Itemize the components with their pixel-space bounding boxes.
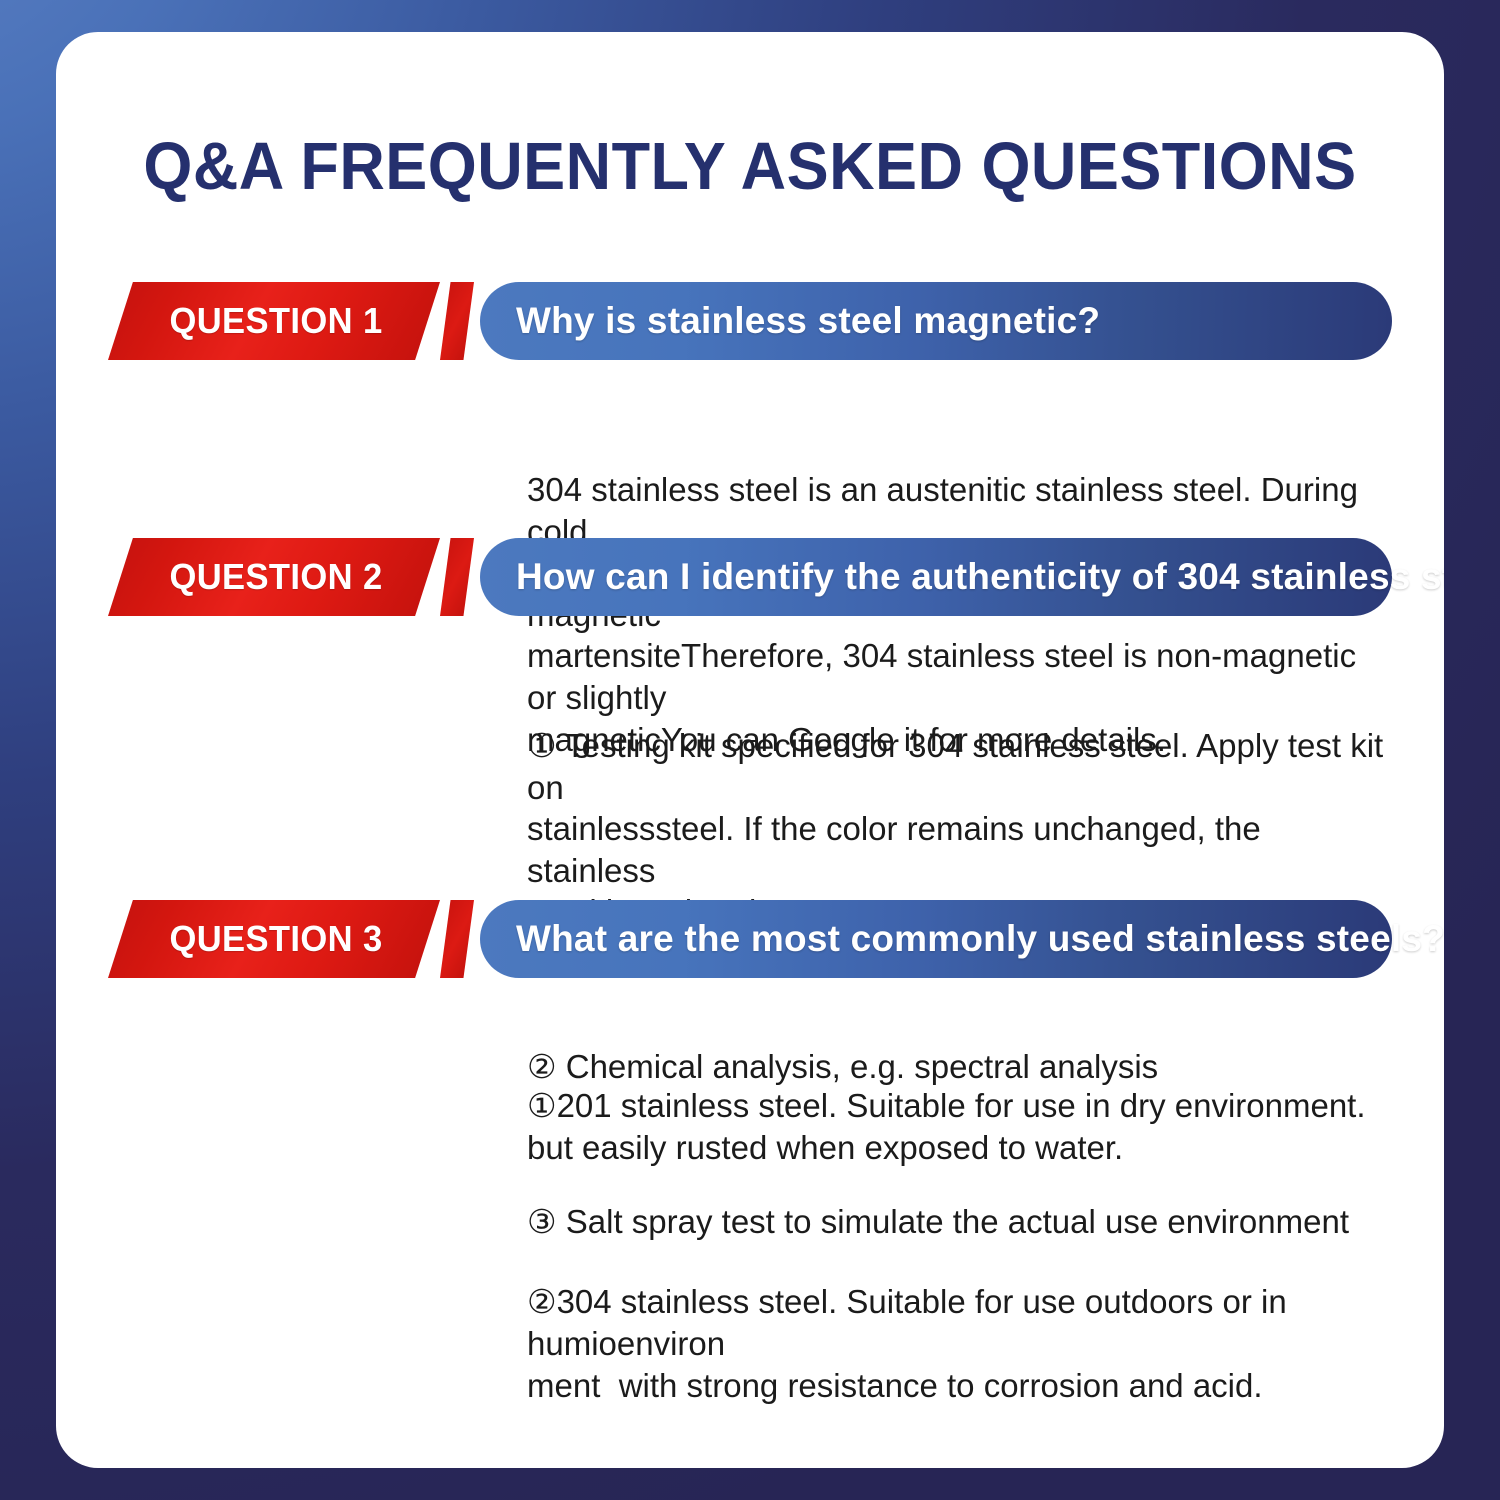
question-title-3: What are the most commonly used stainles…	[516, 918, 1444, 960]
question-header-2: QUESTION 2 How can I identify the authen…	[56, 538, 1444, 616]
question-badge-label-3: QUESTION 3	[169, 918, 382, 960]
question-pill-2[interactable]: How can I identify the authenticity of 3…	[480, 538, 1392, 616]
question-badge-3[interactable]: QUESTION 3	[108, 900, 440, 978]
question-title-2: How can I identify the authenticity of 3…	[516, 556, 1444, 598]
question-pill-1[interactable]: Why is stainless steel magnetic?	[480, 282, 1392, 360]
answer-paragraph: ②304 stainless steel. Suitable for use o…	[527, 1281, 1390, 1406]
faq-card: Q&A FREQUENTLY ASKED QUESTIONS QUESTION …	[56, 32, 1444, 1468]
question-title-1: Why is stainless steel magnetic?	[516, 300, 1100, 342]
question-badge-1[interactable]: QUESTION 1	[108, 282, 440, 360]
question-badge-label-2: QUESTION 2	[169, 556, 382, 598]
question-header-3: QUESTION 3 What are the most commonly us…	[56, 900, 1444, 978]
qa-block-3: QUESTION 3 What are the most commonly us…	[56, 900, 1444, 978]
question-badge-2[interactable]: QUESTION 2	[108, 538, 440, 616]
question-header-1: QUESTION 1 Why is stainless steel magnet…	[56, 282, 1444, 360]
page-title: Q&A FREQUENTLY ASKED QUESTIONS	[98, 128, 1403, 205]
answer-paragraph: ①201 stainless steel. Suitable for use i…	[527, 1085, 1390, 1168]
double-slash-icon-2	[440, 538, 474, 616]
qa-block-2: QUESTION 2 How can I identify the authen…	[56, 538, 1444, 616]
question-badge-label-1: QUESTION 1	[169, 300, 382, 342]
double-slash-icon-1	[440, 282, 474, 360]
double-slash-icon-3	[440, 900, 474, 978]
question-pill-3[interactable]: What are the most commonly used stainles…	[480, 900, 1392, 978]
qa-block-1: QUESTION 1 Why is stainless steel magnet…	[56, 282, 1444, 360]
answer-body-3: ①201 stainless steel. Suitable for use i…	[527, 1002, 1390, 1468]
